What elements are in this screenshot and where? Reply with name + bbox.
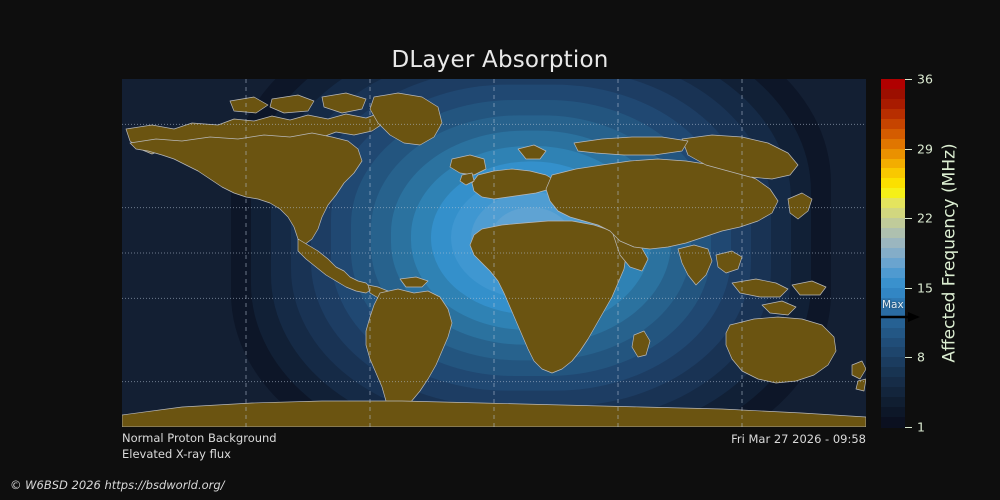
colorbar-segment [881, 367, 905, 378]
colorbar-segment [881, 129, 905, 140]
colorbar-segment [881, 159, 905, 170]
timestamp: Fri Mar 27 2026 - 09:58 [731, 432, 866, 446]
colorbar-segment [881, 198, 905, 209]
colorbar-segment [881, 89, 905, 100]
status-line-1: Normal Proton Background [122, 430, 277, 446]
colorbar-tick-mark [905, 79, 912, 80]
colorbar-segment [881, 149, 905, 160]
colorbar[interactable]: Max [881, 79, 905, 427]
colorbar-segment [881, 268, 905, 279]
colorbar-tick-label: 8 [917, 350, 925, 365]
colorbar-tick-mark [905, 149, 912, 150]
colorbar-segment [881, 218, 905, 229]
map-panel[interactable] [122, 79, 866, 427]
colorbar-segment [881, 288, 905, 299]
page-title: DLayer Absorption [0, 47, 1000, 73]
colorbar-tick-mark [905, 357, 912, 358]
colorbar-segment [881, 178, 905, 189]
map-graticule [122, 79, 866, 427]
colorbar-tick-mark [905, 427, 912, 428]
colorbar-segment [881, 407, 905, 418]
colorbar-segment [881, 238, 905, 249]
colorbar-segment [881, 387, 905, 398]
colorbar-segment [881, 99, 905, 110]
colorbar-segment [881, 377, 905, 388]
colorbar-segment [881, 397, 905, 408]
colorbar-segment [881, 347, 905, 358]
app-root: DLayer Absorption [0, 0, 1000, 500]
colorbar-axis-label: Affected Frequency (MHz) [931, 79, 969, 427]
status-line-2: Elevated X-ray flux [122, 446, 277, 462]
colorbar-max-label: Max [882, 299, 904, 311]
footer-copyright: © W6BSD 2026 https://bsdworld.org/ [10, 478, 225, 492]
status-text: Normal Proton Background Elevated X-ray … [122, 430, 277, 462]
colorbar-segment [881, 139, 905, 150]
colorbar-segment [881, 119, 905, 130]
colorbar-segment [881, 168, 905, 179]
colorbar-segment [881, 417, 905, 428]
colorbar-segment [881, 208, 905, 219]
colorbar-segment [881, 338, 905, 349]
colorbar-segment [881, 188, 905, 199]
colorbar-segment [881, 357, 905, 368]
colorbar-segment [881, 328, 905, 339]
colorbar-segment [881, 248, 905, 259]
colorbar-tick-mark [905, 218, 912, 219]
colorbar-segment [881, 109, 905, 120]
colorbar-tick-mark [905, 288, 912, 289]
colorbar-segment [881, 258, 905, 269]
colorbar-tick-label: 1 [917, 420, 925, 435]
colorbar-segment [881, 228, 905, 239]
colorbar-segment [881, 79, 905, 90]
colorbar-segment [881, 278, 905, 289]
